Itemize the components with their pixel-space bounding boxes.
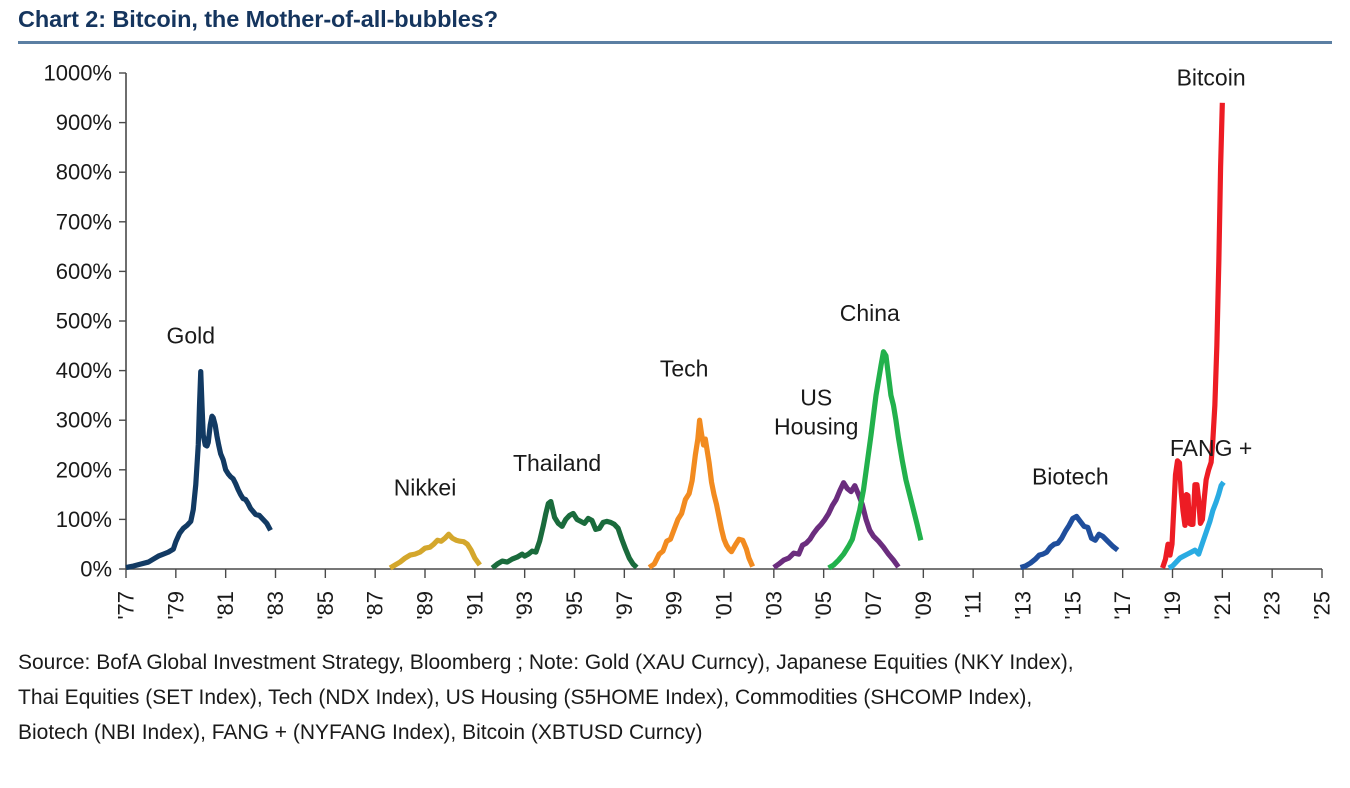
footnote-line-3: Biotech (NBI Index), FANG + (NYFANG Inde… xyxy=(18,715,1338,750)
series-line-tech xyxy=(649,420,752,567)
x-axis-tick-label: '07 xyxy=(861,591,886,620)
series-label-nikkei: Nikkei xyxy=(394,475,457,501)
x-axis-tick-label: '83 xyxy=(263,591,288,620)
x-axis-tick-label: '23 xyxy=(1260,591,1285,620)
series-line-nikkei xyxy=(390,534,480,568)
chart-page: Chart 2: Bitcoin, the Mother-of-all-bubb… xyxy=(0,0,1350,788)
x-axis-tick-label: '05 xyxy=(811,591,836,620)
series-label-bitcoin: Bitcoin xyxy=(1177,64,1246,90)
y-axis-tick-label: 700% xyxy=(56,209,112,234)
x-axis-tick-label: '85 xyxy=(313,591,338,620)
x-axis-tick-label: '87 xyxy=(363,591,388,620)
y-axis-tick-label: 100% xyxy=(56,507,112,532)
chart-plot-area: 0%100%200%300%400%500%600%700%800%900%10… xyxy=(0,50,1350,635)
y-axis-tick-label: 1000% xyxy=(43,61,112,86)
x-axis-tick-label: '99 xyxy=(662,591,687,620)
page-title: Chart 2: Bitcoin, the Mother-of-all-bubb… xyxy=(18,6,498,33)
y-axis-tick-label: 0% xyxy=(80,557,112,582)
footnote-line-2: Thai Equities (SET Index), Tech (NDX Ind… xyxy=(18,680,1338,715)
x-axis-tick-label: '97 xyxy=(612,591,637,620)
series-label-tech: Tech xyxy=(660,356,709,382)
y-axis-tick-label: 400% xyxy=(56,358,112,383)
x-axis-tick-label: '01 xyxy=(712,591,737,620)
source-footnote: Source: BofA Global Investment Strategy,… xyxy=(18,645,1338,750)
series-line-gold xyxy=(126,372,271,568)
x-axis-tick-label: '09 xyxy=(911,591,936,620)
y-axis-tick-label: 200% xyxy=(56,457,112,482)
y-axis-tick-label: 600% xyxy=(56,259,112,284)
x-axis-tick-label: '25 xyxy=(1310,591,1335,620)
x-axis-tick-label: '89 xyxy=(413,591,438,620)
x-axis-tick-label: '19 xyxy=(1160,591,1185,620)
series-label-gold: Gold xyxy=(166,322,215,348)
x-axis-tick-label: '13 xyxy=(1011,591,1036,620)
title-divider xyxy=(18,41,1332,44)
series-label-us-housing: USHousing xyxy=(774,384,858,439)
x-axis-tick-label: '93 xyxy=(512,591,537,620)
x-axis-tick-label: '15 xyxy=(1060,591,1085,620)
x-axis-tick-label: '91 xyxy=(462,591,487,620)
y-axis-tick-label: 800% xyxy=(56,160,112,185)
x-axis-tick-label: '11 xyxy=(961,591,986,618)
series-label-biotech: Biotech xyxy=(1032,464,1109,490)
x-axis-tick-label: '03 xyxy=(761,591,786,620)
series-line-us-housing xyxy=(774,483,899,568)
series-label-fang: FANG + xyxy=(1170,435,1252,461)
x-axis-tick-label: '17 xyxy=(1110,591,1135,620)
x-axis-tick-label: '77 xyxy=(114,591,139,620)
y-axis-tick-label: 900% xyxy=(56,110,112,135)
series-line-bitcoin xyxy=(1163,103,1223,568)
series-label-china: China xyxy=(840,300,900,326)
series-label-thailand: Thailand xyxy=(513,450,601,476)
y-axis-tick-label: 500% xyxy=(56,309,112,334)
series-line-thailand xyxy=(492,502,637,568)
x-axis-tick-label: '81 xyxy=(213,591,238,620)
y-axis-tick-label: 300% xyxy=(56,408,112,433)
bubbles-line-chart: 0%100%200%300%400%500%600%700%800%900%10… xyxy=(0,50,1350,635)
x-axis-tick-label: '79 xyxy=(163,591,188,620)
footnote-line-1: Source: BofA Global Investment Strategy,… xyxy=(18,645,1338,680)
series-line-biotech xyxy=(1021,516,1118,567)
x-axis-tick-label: '95 xyxy=(562,591,587,620)
x-axis-tick-label: '21 xyxy=(1210,591,1235,620)
